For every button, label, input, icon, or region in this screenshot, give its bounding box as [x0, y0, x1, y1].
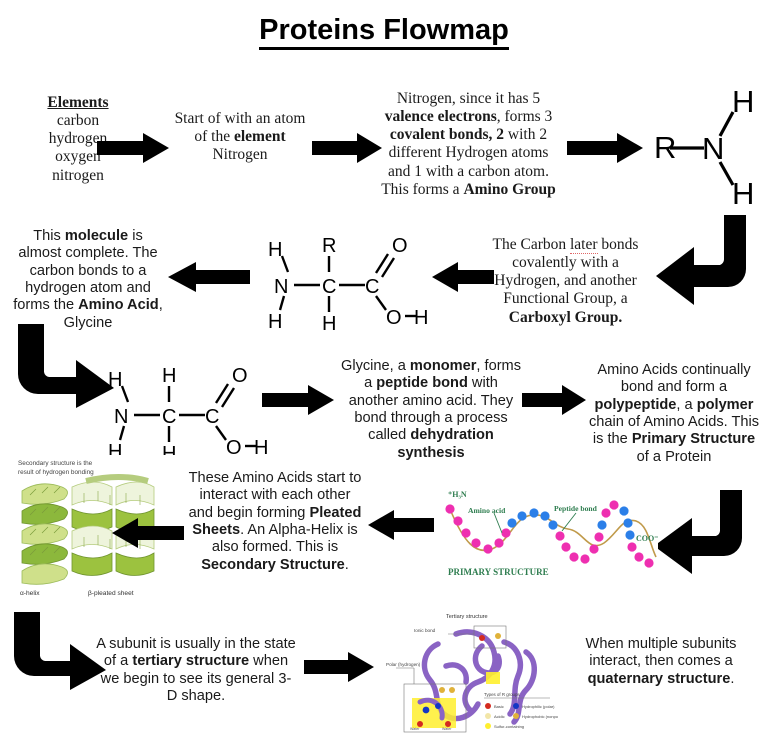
- carboxyl-note-block: The Carbon later bonds covalently with a…: [488, 236, 643, 327]
- sn-b2: Secondary Structure: [201, 557, 345, 573]
- polypeptide-block: Amino Acids continually bond and form a …: [586, 362, 762, 466]
- svg-text:C: C: [205, 406, 219, 428]
- nv-t1: Nitrogen, since it has 5: [397, 90, 540, 107]
- pp-b2: polymer: [697, 397, 754, 413]
- cn-spell: later: [570, 236, 598, 254]
- right-arrow-1: [97, 133, 169, 163]
- amine-structure: R N H H: [632, 82, 762, 207]
- svg-text:Amino acid: Amino acid: [468, 506, 506, 515]
- glycine-structure: H N H H C H C O O H: [102, 358, 278, 466]
- left-arrow-4: [368, 510, 434, 540]
- svg-text:Tertiary structure: Tertiary structure: [446, 614, 488, 620]
- svg-text:Ionic bond: Ionic bond: [414, 628, 436, 633]
- svg-text:R: R: [654, 130, 676, 165]
- start-atom-block: Start of with an atom of the element Nit…: [160, 110, 320, 164]
- start-atom-line2: of the element: [160, 128, 320, 146]
- svg-text:Hydrophilic (polar): Hydrophilic (polar): [522, 704, 555, 709]
- qn-t1: When multiple subunits interact, then co…: [586, 636, 737, 669]
- svg-text:⁺H₃N: ⁺H₃N: [448, 490, 467, 499]
- svg-text:Peptide bond: Peptide bond: [554, 504, 598, 513]
- svg-text:result of hydrogen bonding: result of hydrogen bonding: [18, 469, 94, 476]
- svg-text:Hydrophobic (nonpolar): Hydrophobic (nonpolar): [522, 714, 558, 719]
- nitrogen-valence-block: Nitrogen, since it has 5 valence electro…: [376, 90, 561, 199]
- svg-text:Polar (hydrogen): Polar (hydrogen): [386, 662, 421, 667]
- page-title: Proteins Flowmap: [0, 14, 768, 47]
- right-arrow-6: [304, 652, 374, 682]
- svg-text:C: C: [365, 276, 379, 298]
- amino-acid-structure: H N H R C H C O O H: [262, 228, 438, 336]
- pp-b3: Primary Structure: [632, 431, 755, 447]
- svg-text:Secondary structure is the: Secondary structure is the: [18, 460, 93, 467]
- svg-text:R: R: [322, 235, 336, 257]
- elements-heading: Elements: [8, 94, 148, 112]
- nv-t2: , forms 3: [497, 108, 553, 125]
- pb-b1: monomer: [410, 358, 477, 374]
- mn-b1: molecule: [65, 228, 128, 244]
- left-arrow-3: [112, 518, 184, 548]
- left-arrow-2: [432, 262, 494, 292]
- pp-t1: Amino Acids continually bond and form a: [597, 362, 750, 395]
- element-nitrogen: nitrogen: [8, 167, 148, 185]
- cn-b1: Carboxyl Group.: [509, 309, 622, 326]
- svg-text:C: C: [162, 406, 176, 428]
- svg-text:N: N: [702, 131, 724, 166]
- nv-b1: valence electrons: [385, 108, 497, 125]
- svg-text:Types of R groups: Types of R groups: [484, 692, 520, 697]
- mn-t1: This: [33, 228, 65, 244]
- svg-text:Water: Water: [442, 727, 452, 731]
- svg-text:H: H: [162, 365, 176, 387]
- pp-t4: of a Protein: [637, 449, 712, 465]
- element-carbon: carbon: [8, 112, 148, 130]
- svg-text:C: C: [322, 276, 336, 298]
- svg-text:H: H: [268, 311, 282, 333]
- tertiary-note-block: A subunit is usually in the state of a t…: [96, 636, 296, 705]
- nv-b2: covalent bonds, 2: [390, 126, 504, 143]
- right-arrow-5: [522, 385, 586, 415]
- svg-text:H: H: [732, 176, 754, 207]
- start-atom-line1: Start of with an atom: [160, 110, 320, 128]
- svg-text:Water: Water: [410, 727, 420, 731]
- cn-t1: The Carbon: [493, 236, 570, 253]
- flowmap-canvas: Proteins Flowmap Elements carbon hydroge…: [0, 0, 768, 748]
- pp-t2: , a: [676, 397, 696, 413]
- right-arrow-2: [312, 133, 382, 163]
- svg-text:H: H: [414, 307, 428, 329]
- sn-t3: .: [345, 557, 349, 573]
- svg-text:O: O: [386, 307, 402, 329]
- tertiary-structure-image: Tertiary structure: [386, 606, 558, 742]
- svg-text:H: H: [732, 84, 754, 119]
- svg-text:Acidic: Acidic: [494, 714, 505, 719]
- svg-text:Sulfur-containing: Sulfur-containing: [494, 724, 524, 729]
- svg-text:N: N: [114, 406, 128, 428]
- pb-b2: peptide bond: [376, 375, 468, 391]
- primary-structure-image: ⁺H₃N Amino acid Peptide bond COO⁻ PRIMAR…: [436, 483, 658, 588]
- left-arrow-1: [168, 262, 250, 292]
- svg-text:O: O: [232, 365, 248, 387]
- molecule-note-block: This molecule is almost complete. The ca…: [12, 228, 164, 332]
- svg-text:COO⁻: COO⁻: [636, 534, 658, 543]
- right-arrow-4: [262, 385, 334, 415]
- svg-text:O: O: [392, 235, 408, 257]
- quaternary-note-block: When multiple subunits interact, then co…: [570, 636, 752, 688]
- svg-text:α-helix: α-helix: [20, 590, 40, 597]
- nv-b3: Amino Group: [463, 181, 555, 198]
- svg-text:Basic: Basic: [494, 704, 504, 709]
- qn-t2: .: [730, 671, 734, 687]
- secondary-note-block: These Amino Acids start to interact with…: [186, 470, 364, 574]
- pp-b1: polypeptide: [595, 397, 677, 413]
- pb-t1: Glycine, a: [341, 358, 410, 374]
- svg-text:N: N: [274, 276, 288, 298]
- qn-b1: quaternary structure: [588, 671, 731, 687]
- page-title-text: Proteins Flowmap: [259, 14, 509, 50]
- svg-text:H: H: [108, 369, 122, 391]
- peptide-bond-block: Glycine, a monomer, forms a peptide bond…: [340, 358, 522, 462]
- svg-text:O: O: [226, 437, 242, 459]
- tn-b1: tertiary structure: [132, 653, 249, 669]
- elbow-arrow-down-left-1: [650, 215, 750, 305]
- pb-b3: dehydration synthesis: [397, 427, 494, 460]
- mn-b2: Amino Acid: [78, 297, 159, 313]
- svg-text:β-pleated sheet: β-pleated sheet: [88, 590, 134, 597]
- svg-text:H: H: [322, 313, 336, 335]
- start-atom-line3: Nitrogen: [160, 146, 320, 164]
- elbow-arrow-down-left-2: [648, 490, 748, 574]
- svg-text:H: H: [254, 437, 268, 459]
- svg-text:H: H: [268, 239, 282, 261]
- svg-text:PRIMARY STRUCTURE: PRIMARY STRUCTURE: [448, 567, 549, 577]
